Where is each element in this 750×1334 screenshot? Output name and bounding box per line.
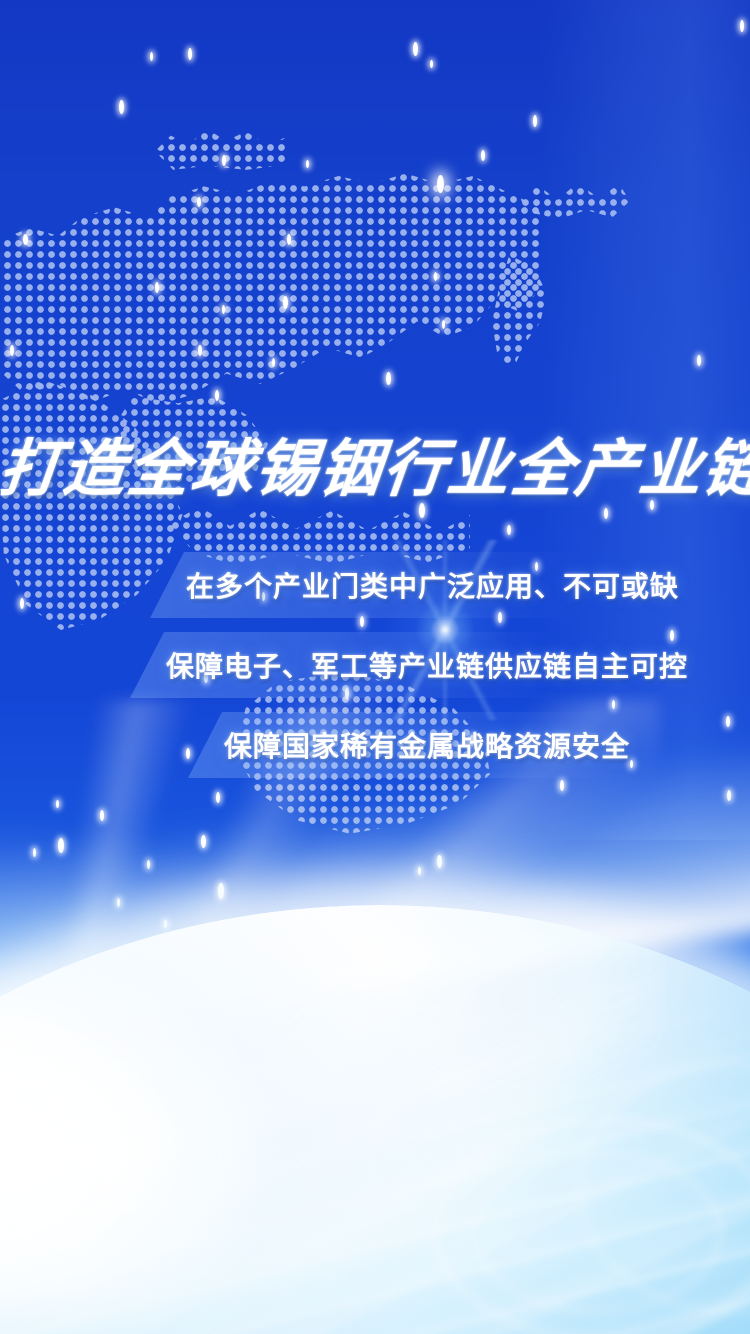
map-landmass-eurasia [0,150,540,410]
left-light-glow [0,820,460,1334]
subtitle-text-3: 保障国家稀有金属战略资源安全 [224,725,630,765]
subtitle-text-1: 在多个产业门类中广泛应用、不可或缺 [186,565,679,605]
subtitle-banner-3: 保障国家稀有金属战略资源安全 [188,712,630,778]
subtitle-banner-1: 在多个产业门类中广泛应用、不可或缺 [150,552,679,618]
page-title: 打造全球锡铟行业全产业链链主 [0,418,750,508]
poster-root: 打造全球锡铟行业全产业链链主 在多个产业门类中广泛应用、不可或缺 保障电子、军工… [0,0,750,1334]
subtitle-text-2: 保障电子、军工等产业链供应链自主可控 [166,645,688,685]
map-landmass-arctic-islands [155,120,285,172]
subtitle-banner-2: 保障电子、军工等产业链供应链自主可控 [130,632,688,698]
